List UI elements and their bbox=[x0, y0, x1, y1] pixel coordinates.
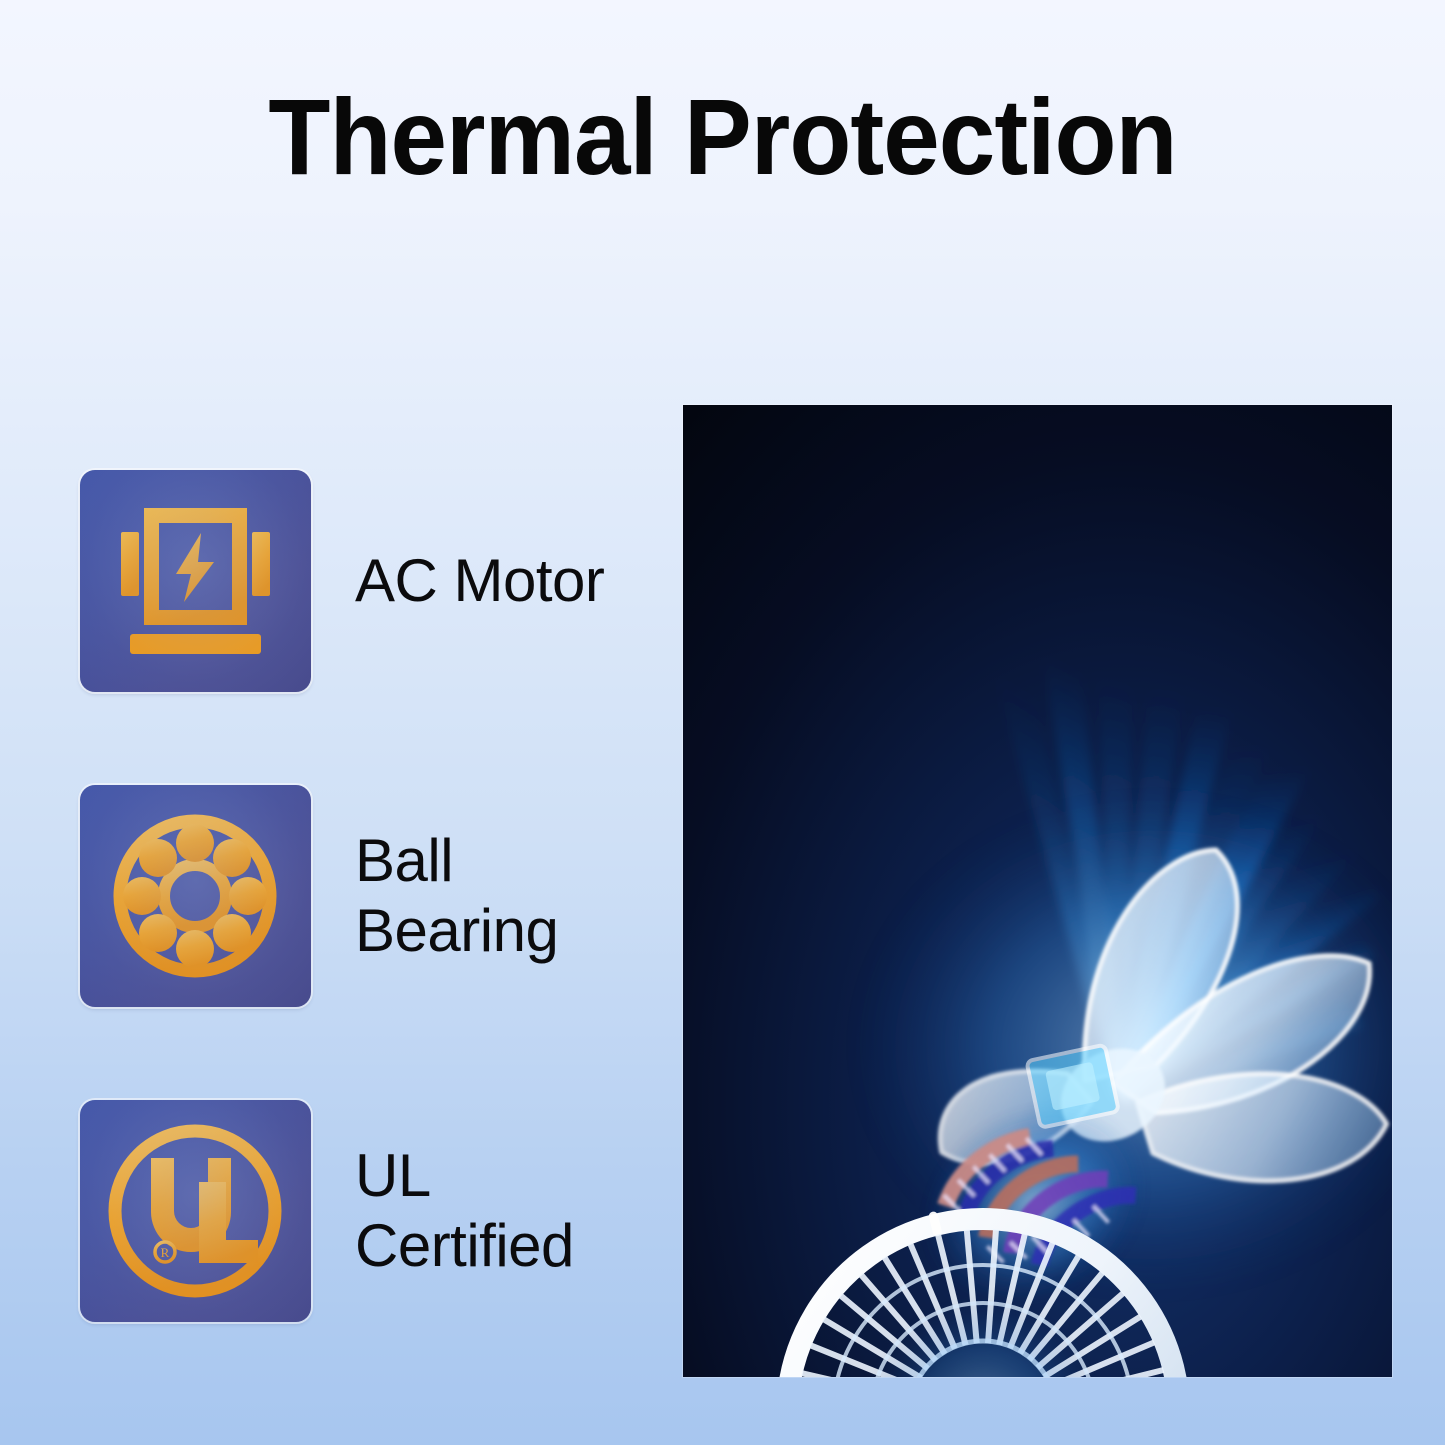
ac-motor-icon-tile bbox=[80, 470, 311, 692]
feature-item-ball-bearing: Ball Bearing bbox=[80, 785, 660, 1007]
feature-label-ul-certified: UL Certified bbox=[355, 1141, 574, 1281]
feature-item-ac-motor: AC Motor bbox=[80, 470, 660, 692]
feature-label-ball-bearing: Ball Bearing bbox=[355, 826, 558, 966]
feature-item-ul-certified: R UL Certified bbox=[80, 1100, 660, 1322]
product-photo-illustration bbox=[683, 405, 1392, 1377]
ball-bearing-icon-tile bbox=[80, 785, 311, 1007]
feature-list: AC Motor bbox=[80, 470, 660, 1322]
svg-text:R: R bbox=[161, 1245, 170, 1260]
ul-certified-icon: R bbox=[80, 1100, 311, 1322]
page-title: Thermal Protection bbox=[43, 78, 1401, 197]
infographic-page: Thermal Protection bbox=[0, 0, 1445, 1445]
feature-label-ac-motor: AC Motor bbox=[355, 546, 604, 616]
ac-motor-icon bbox=[80, 470, 311, 692]
product-photo bbox=[683, 405, 1392, 1377]
ball-bearing-icon bbox=[80, 785, 311, 1007]
ul-certified-icon-tile: R bbox=[80, 1100, 311, 1322]
